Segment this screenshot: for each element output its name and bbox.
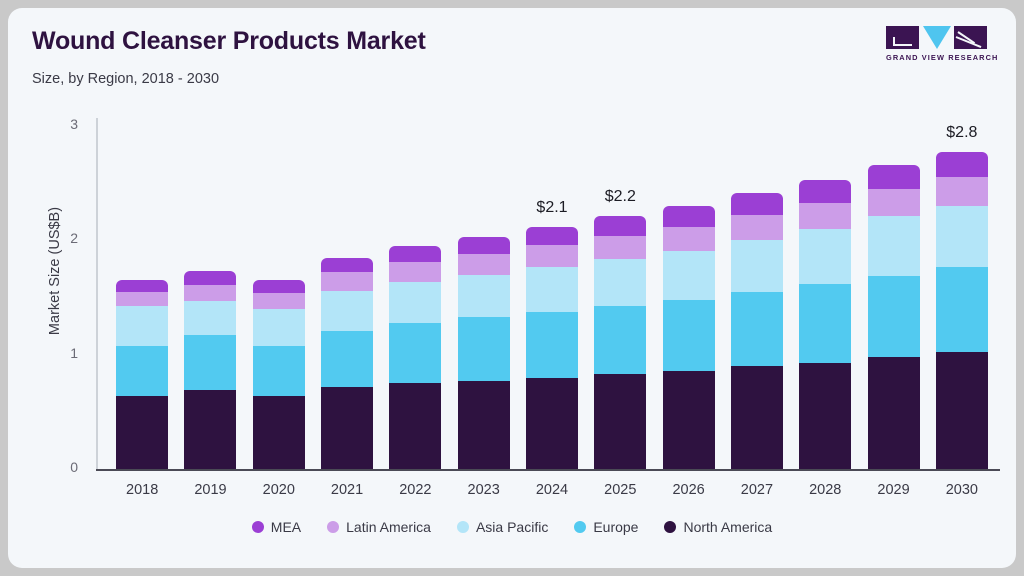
segment-mea-2023[interactable] xyxy=(458,237,510,254)
segment-europe-2018[interactable] xyxy=(116,346,168,396)
segment-latin-america-2022[interactable] xyxy=(389,262,441,281)
segment-asia-pacific-2022[interactable] xyxy=(389,282,441,323)
segment-europe-2025[interactable] xyxy=(594,306,646,375)
segment-latin-america-2020[interactable] xyxy=(253,293,305,309)
segment-asia-pacific-2030[interactable] xyxy=(936,206,988,267)
legend-swatch-icon xyxy=(457,521,469,533)
legend-label: Latin America xyxy=(346,519,431,535)
segment-mea-2018[interactable] xyxy=(116,280,168,291)
segment-mea-2025[interactable] xyxy=(594,216,646,235)
segment-mea-2027[interactable] xyxy=(731,193,783,215)
segment-north-america-2021[interactable] xyxy=(321,387,373,469)
segment-europe-2021[interactable] xyxy=(321,331,373,387)
segment-asia-pacific-2019[interactable] xyxy=(184,301,236,335)
segment-latin-america-2024[interactable] xyxy=(526,245,578,267)
legend-item-north-america[interactable]: North America xyxy=(664,519,772,535)
segment-mea-2024[interactable] xyxy=(526,227,578,245)
segment-mea-2019[interactable] xyxy=(184,271,236,285)
y-tick-3: 3 xyxy=(8,116,78,132)
segment-europe-2026[interactable] xyxy=(663,300,715,371)
bar-2020[interactable] xyxy=(253,280,305,469)
segment-mea-2022[interactable] xyxy=(389,246,441,262)
value-label-2030: $2.8 xyxy=(917,124,1007,142)
y-tick-1: 1 xyxy=(8,345,78,361)
segment-north-america-2026[interactable] xyxy=(663,371,715,469)
segment-latin-america-2028[interactable] xyxy=(799,203,851,229)
segment-asia-pacific-2027[interactable] xyxy=(731,240,783,291)
bar-2025[interactable] xyxy=(594,216,646,469)
y-axis-label: Market Size (US$B) xyxy=(47,176,63,366)
legend-swatch-icon xyxy=(327,521,339,533)
segment-asia-pacific-2020[interactable] xyxy=(253,309,305,346)
bar-chart-plot: Market Size (US$B) 0123 2018201920202021… xyxy=(8,8,1016,568)
segment-asia-pacific-2021[interactable] xyxy=(321,291,373,331)
segment-europe-2029[interactable] xyxy=(868,276,920,357)
segment-latin-america-2029[interactable] xyxy=(868,189,920,216)
segment-mea-2021[interactable] xyxy=(321,258,373,273)
segment-europe-2020[interactable] xyxy=(253,346,305,396)
segment-mea-2028[interactable] xyxy=(799,180,851,203)
bar-2028[interactable] xyxy=(799,180,851,469)
chart-card: Wound Cleanser Products Market Size, by … xyxy=(8,8,1016,568)
segment-europe-2028[interactable] xyxy=(799,284,851,363)
segment-north-america-2023[interactable] xyxy=(458,381,510,469)
legend-label: Asia Pacific xyxy=(476,519,548,535)
segment-europe-2030[interactable] xyxy=(936,267,988,353)
segment-latin-america-2023[interactable] xyxy=(458,254,510,275)
y-tick-0: 0 xyxy=(8,459,78,475)
legend-swatch-icon xyxy=(252,521,264,533)
segment-europe-2024[interactable] xyxy=(526,312,578,377)
segment-mea-2030[interactable] xyxy=(936,152,988,177)
segment-north-america-2020[interactable] xyxy=(253,396,305,469)
bar-2029[interactable] xyxy=(868,165,920,469)
legend-item-latin-america[interactable]: Latin America xyxy=(327,519,431,535)
segment-north-america-2029[interactable] xyxy=(868,357,920,469)
segment-mea-2020[interactable] xyxy=(253,280,305,293)
bar-2027[interactable] xyxy=(731,193,783,469)
segment-europe-2019[interactable] xyxy=(184,335,236,390)
segment-north-america-2022[interactable] xyxy=(389,383,441,469)
segment-latin-america-2026[interactable] xyxy=(663,227,715,251)
legend-swatch-icon xyxy=(664,521,676,533)
y-tick-2: 2 xyxy=(8,230,78,246)
segment-latin-america-2019[interactable] xyxy=(184,285,236,301)
legend-swatch-icon xyxy=(574,521,586,533)
segment-latin-america-2025[interactable] xyxy=(594,236,646,259)
segment-asia-pacific-2029[interactable] xyxy=(868,216,920,275)
bar-2024[interactable] xyxy=(526,227,578,469)
segment-north-america-2030[interactable] xyxy=(936,352,988,469)
segment-north-america-2019[interactable] xyxy=(184,390,236,469)
bar-2018[interactable] xyxy=(116,280,168,469)
legend-item-asia-pacific[interactable]: Asia Pacific xyxy=(457,519,548,535)
y-axis-line xyxy=(96,118,98,471)
legend-label: Europe xyxy=(593,519,638,535)
bar-2022[interactable] xyxy=(389,246,441,469)
segment-europe-2023[interactable] xyxy=(458,317,510,381)
legend-label: MEA xyxy=(271,519,301,535)
segment-north-america-2018[interactable] xyxy=(116,396,168,469)
segment-mea-2026[interactable] xyxy=(663,206,715,227)
segment-latin-america-2027[interactable] xyxy=(731,215,783,240)
segment-north-america-2025[interactable] xyxy=(594,374,646,469)
legend-item-mea[interactable]: MEA xyxy=(252,519,301,535)
segment-latin-america-2030[interactable] xyxy=(936,177,988,206)
segment-latin-america-2021[interactable] xyxy=(321,272,373,290)
segment-asia-pacific-2028[interactable] xyxy=(799,229,851,284)
segment-latin-america-2018[interactable] xyxy=(116,292,168,306)
bar-2026[interactable] xyxy=(663,206,715,469)
segment-asia-pacific-2026[interactable] xyxy=(663,251,715,300)
segment-north-america-2024[interactable] xyxy=(526,378,578,469)
chart-legend: MEALatin AmericaAsia PacificEuropeNorth … xyxy=(8,519,1016,535)
x-tick-2030: 2030 xyxy=(922,482,1002,498)
segment-mea-2029[interactable] xyxy=(868,165,920,189)
segment-asia-pacific-2024[interactable] xyxy=(526,267,578,313)
segment-asia-pacific-2025[interactable] xyxy=(594,259,646,306)
segment-asia-pacific-2018[interactable] xyxy=(116,306,168,346)
legend-label: North America xyxy=(683,519,772,535)
legend-item-europe[interactable]: Europe xyxy=(574,519,638,535)
segment-asia-pacific-2023[interactable] xyxy=(458,275,510,317)
segment-north-america-2027[interactable] xyxy=(731,366,783,469)
segment-europe-2022[interactable] xyxy=(389,323,441,384)
x-axis-line xyxy=(96,469,1000,471)
bar-2030[interactable] xyxy=(936,152,988,469)
value-label-2025: $2.2 xyxy=(575,188,665,206)
segment-europe-2027[interactable] xyxy=(731,292,783,366)
bar-2023[interactable] xyxy=(458,237,510,469)
segment-north-america-2028[interactable] xyxy=(799,363,851,469)
bar-2019[interactable] xyxy=(184,271,236,469)
bar-2021[interactable] xyxy=(321,257,373,469)
